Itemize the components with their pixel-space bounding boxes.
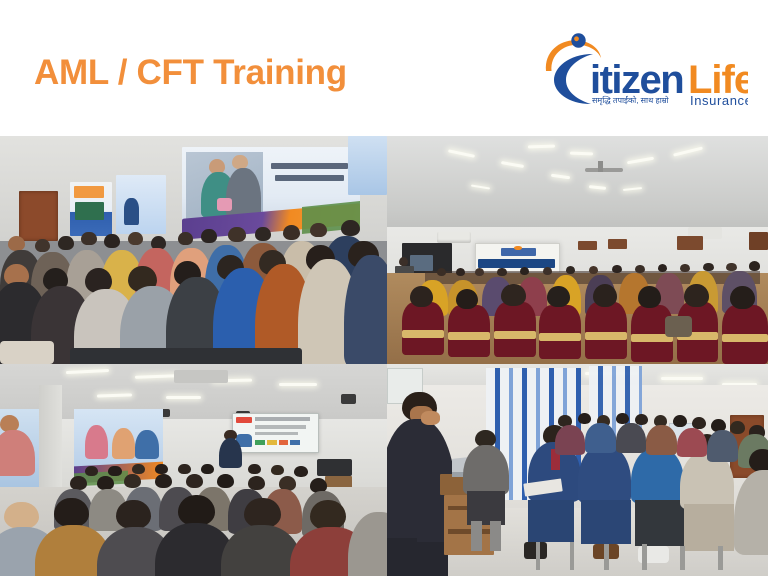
citizen-life-logo: itizen Life Insurance समृद्धि तपाईंको, स…: [538, 31, 748, 109]
logo-tagline-nepali: समृद्धि तपाईंको, साथ हाम्रो: [592, 95, 670, 106]
photo-top-left: [0, 136, 387, 364]
page-title: AML / CFT Training: [34, 55, 347, 90]
svg-text:Insurance: Insurance: [690, 93, 748, 108]
presentation-slide: AML / CFT Training itizen Life Insurance…: [0, 0, 768, 576]
photo-bottom-right: [387, 364, 768, 576]
citizen-life-logo-icon: itizen Life Insurance समृद्धि तपाईंको, स…: [538, 31, 748, 109]
photo-top-right: [387, 136, 768, 364]
photo-grid: [0, 136, 768, 576]
photo-bottom-left: [0, 364, 387, 576]
slide-header: AML / CFT Training itizen Life Insurance…: [0, 0, 768, 136]
